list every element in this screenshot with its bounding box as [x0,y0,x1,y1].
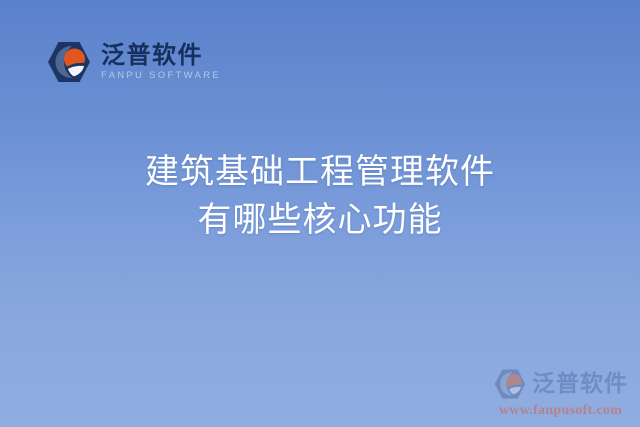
promo-banner: 泛普软件 FANPU SOFTWARE 建筑基础工程管理软件 有哪些核心功能 泛… [0,0,640,427]
watermark: 泛普软件 www.fanpusoft.com [493,368,628,419]
watermark-logo-row: 泛普软件 [493,368,628,400]
brand-wordmark: 泛普软件 FANPU SOFTWARE [101,43,221,81]
page-title: 建筑基础工程管理软件 有哪些核心功能 [0,148,640,245]
page-title-line-1: 建筑基础工程管理软件 [0,148,640,196]
fanpu-hexagon-logo-icon [46,40,92,84]
brand-logo[interactable]: 泛普软件 FANPU SOFTWARE [46,40,221,84]
fanpu-hexagon-logo-icon [493,368,527,400]
watermark-name-cn: 泛普软件 [532,373,628,396]
brand-name-cn: 泛普软件 [101,43,221,68]
page-title-line-2: 有哪些核心功能 [0,196,640,244]
brand-name-en: FANPU SOFTWARE [101,71,221,81]
watermark-url: www.fanpusoft.com [499,403,622,419]
